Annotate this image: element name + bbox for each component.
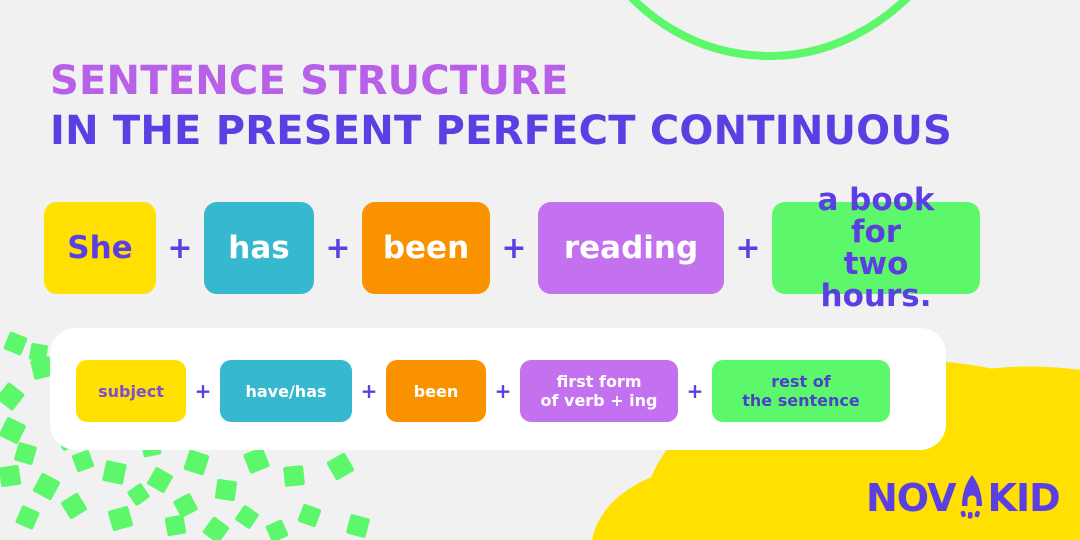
example-plus-4: + [724,231,772,266]
legend-chip-2: have/has [220,360,352,422]
example-plus-2: + [314,231,362,266]
page-title-line-1: SENTENCE STRUCTURE [50,56,952,106]
infographic-canvas: SENTENCE STRUCTURE IN THE PRESENT PERFEC… [0,0,1080,540]
formula-legend-row: subject+have/has+been+first formof verb … [76,358,890,424]
logo-text-before: NOV [866,479,956,517]
example-chip-3: been [362,202,490,294]
legend-plus-4: + [678,379,712,403]
page-title-line-2: IN THE PRESENT PERFECT CONTINUOUS [50,106,952,156]
legend-chip-4: first formof verb + ing [520,360,678,422]
rocket-icon [957,473,987,519]
example-plus-1: + [156,231,204,266]
legend-chip-3: been [386,360,486,422]
logo-text-after: KID [988,479,1060,517]
example-chip-2: has [204,202,314,294]
legend-plus-3: + [486,379,520,403]
novakid-logo[interactable]: NOV KID [866,473,1060,517]
legend-plus-1: + [186,379,220,403]
legend-chip-5: rest ofthe sentence [712,360,890,422]
example-sentence-row: She+has+been+reading+a book fortwo hours… [44,202,980,294]
page-title: SENTENCE STRUCTURE IN THE PRESENT PERFEC… [50,56,952,156]
example-plus-3: + [490,231,538,266]
example-chip-5: a book fortwo hours. [772,202,980,294]
legend-chip-1: subject [76,360,186,422]
example-chip-1: She [44,202,156,294]
legend-plus-2: + [352,379,386,403]
example-chip-4: reading [538,202,724,294]
